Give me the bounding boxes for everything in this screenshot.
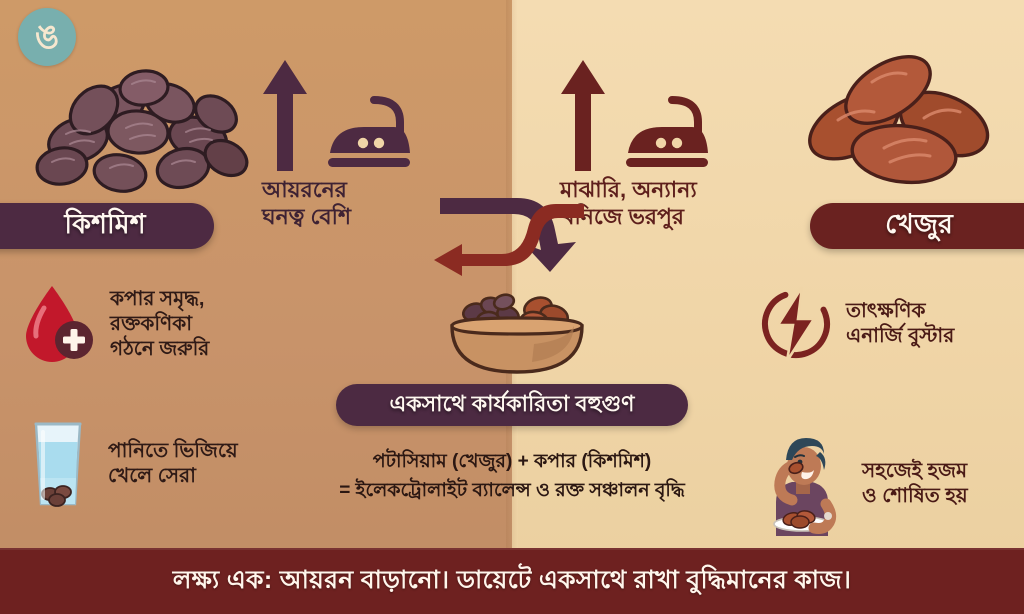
benefit-easy-digestion: সহজেই হজম ও শোষিত হয় bbox=[752, 430, 968, 538]
benefit-digest-line-2: ও শোষিত হয় bbox=[862, 484, 968, 509]
bowl-of-raisins-and-dates bbox=[438, 288, 596, 382]
bottom-banner-text: লক্ষ্য এক: আয়রন বাড়ানো। ডায়েটে একসাথে… bbox=[173, 560, 851, 603]
iron-icon bbox=[322, 95, 418, 173]
combined-benefit-lines: পটাসিয়াম (খেজুর) + কপার (কিশমিশ) = ইলেক… bbox=[262, 448, 762, 505]
product-label-raisin-text: কিশমিশ bbox=[64, 204, 145, 249]
benefit-energy-text: তাৎক্ষণিক এনার্জি বুস্টার bbox=[846, 299, 954, 349]
benefit-soak-line-1: পানিতে ভিজিয়ে bbox=[108, 439, 238, 464]
swap-arrows-icon bbox=[432, 198, 592, 282]
right-stat-icons bbox=[560, 58, 716, 173]
product-label-raisin: কিশমিশ bbox=[0, 203, 214, 249]
left-stat-text: আয়রনের ঘনত্ব বেশি bbox=[262, 177, 418, 231]
benefit-copper-text: কপার সমৃদ্ধ, রক্তকণিকা গঠনে জরুরি bbox=[110, 287, 209, 362]
left-stat-icons bbox=[262, 58, 418, 173]
man-eating-dates-illustration bbox=[752, 430, 848, 538]
raisins-pile-illustration bbox=[20, 48, 250, 203]
left-iron-stat: আয়রনের ঘনত্ব বেশি bbox=[262, 58, 418, 231]
infographic-poster: ঙ bbox=[0, 0, 1024, 614]
dates-pile-illustration bbox=[792, 46, 1008, 198]
benefit-soak-text: পানিতে ভিজিয়ে খেলে সেরা bbox=[108, 439, 238, 489]
lightning-bolt-circle-icon bbox=[760, 285, 832, 363]
benefit-copper-line-2: রক্তকণিকা bbox=[110, 312, 209, 337]
combined-benefit-line-2: = ইলেকট্রোলাইট ব্যালেন্স ও রক্ত সঞ্চালন … bbox=[262, 477, 762, 506]
water-glass-with-raisins-icon bbox=[22, 418, 94, 510]
bottom-banner: লক্ষ্য এক: আয়রন বাড়ানো। ডায়েটে একসাথে… bbox=[0, 548, 1024, 614]
up-arrow-icon bbox=[262, 58, 308, 173]
benefit-digest-line-1: সহজেই হজম bbox=[862, 459, 968, 484]
product-label-date-text: খেজুর bbox=[885, 204, 953, 249]
combined-benefit-line-1: পটাসিয়াম (খেজুর) + কপার (কিশমিশ) bbox=[262, 448, 762, 477]
benefit-copper-rich: কপার সমৃদ্ধ, রক্তকণিকা গঠনে জরুরি bbox=[22, 282, 209, 366]
benefit-copper-line-1: কপার সমৃদ্ধ, bbox=[110, 287, 209, 312]
left-stat-line-2: ঘনত্ব বেশি bbox=[262, 204, 418, 231]
benefit-digest-text: সহজেই হজম ও শোষিত হয় bbox=[862, 459, 968, 509]
benefit-soak-in-water: পানিতে ভিজিয়ে খেলে সেরা bbox=[22, 418, 238, 510]
left-stat-line-1: আয়রনের bbox=[262, 177, 418, 204]
combined-benefit-pill-text: একসাথে কার্যকারিতা বহুগুণ bbox=[390, 387, 635, 424]
benefit-copper-line-3: গঠনে জরুরি bbox=[110, 337, 209, 362]
benefit-energy-line-1: তাৎক্ষণিক bbox=[846, 299, 954, 324]
blood-drop-plus-icon bbox=[22, 282, 96, 366]
benefit-energy-line-2: এনার্জি বুস্টার bbox=[846, 324, 954, 349]
combined-benefit-pill: একসাথে কার্যকারিতা বহুগুণ bbox=[336, 384, 688, 426]
benefit-instant-energy: তাৎক্ষণিক এনার্জি বুস্টার bbox=[760, 285, 954, 363]
iron-icon bbox=[620, 95, 716, 173]
product-label-date: খেজুর bbox=[810, 203, 1024, 249]
benefit-soak-line-2: খেলে সেরা bbox=[108, 464, 238, 489]
up-arrow-icon bbox=[560, 58, 606, 173]
